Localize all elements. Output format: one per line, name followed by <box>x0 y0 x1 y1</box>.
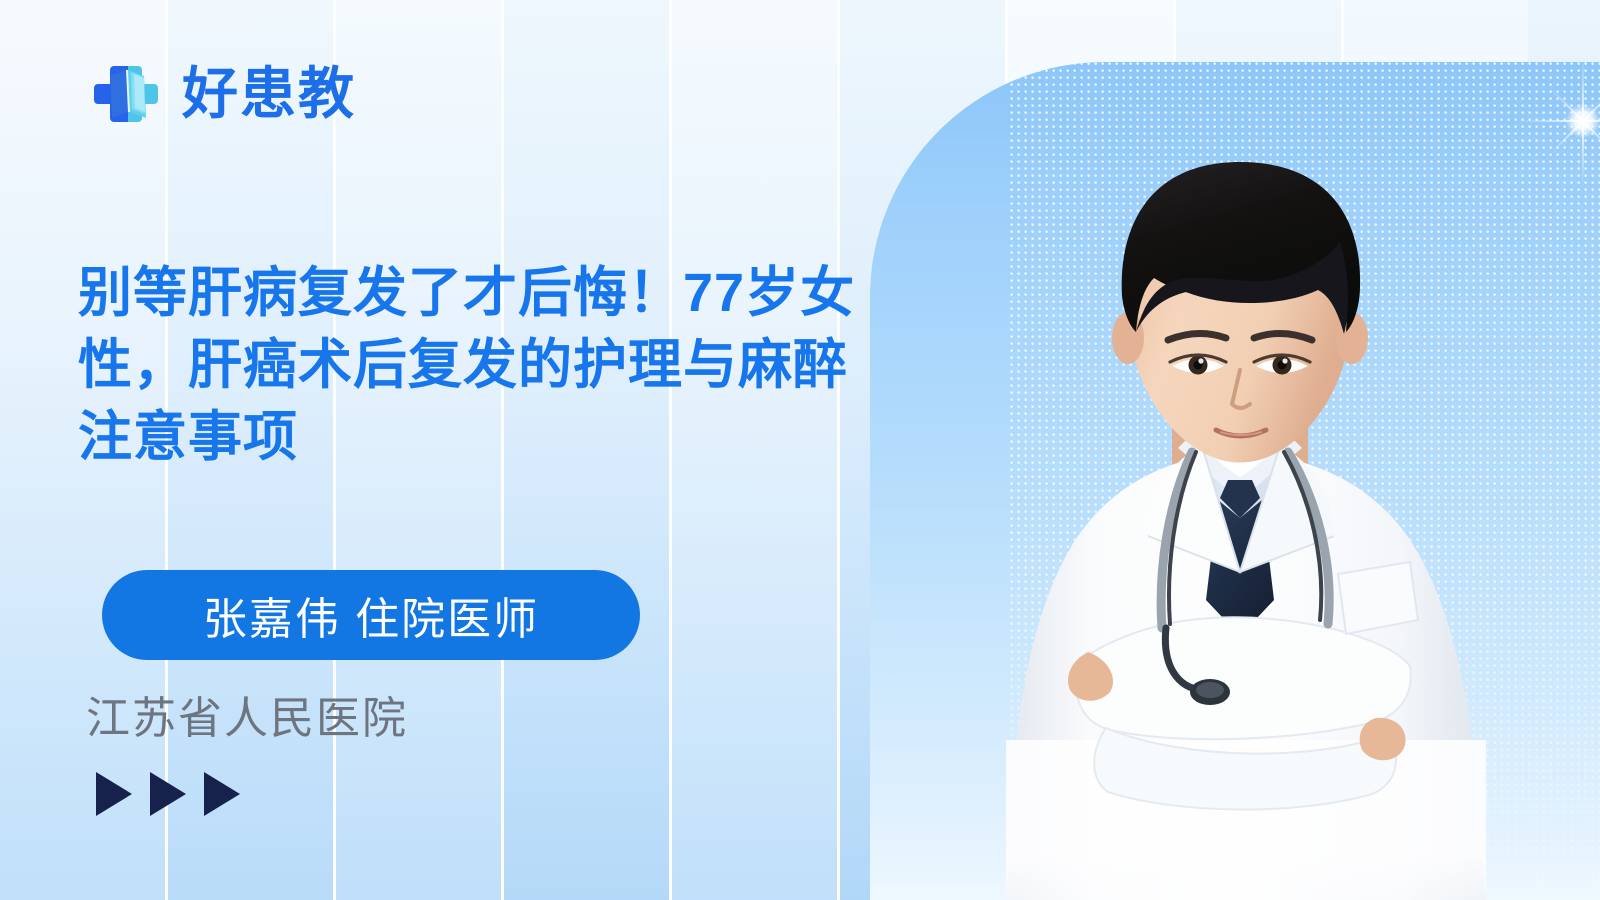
medical-cross-book-icon <box>88 54 168 134</box>
doctor-portrait <box>910 100 1570 900</box>
headline-title: 别等肝病复发了才后悔！77岁女性，肝癌术后复发的护理与麻醉注意事项 <box>78 258 868 473</box>
play-arrow-icon <box>96 772 132 816</box>
play-arrow-icon <box>204 772 240 816</box>
doctor-name-badge: 张嘉伟 住院医师 <box>102 570 640 660</box>
doctor-name-label: 张嘉伟 住院医师 <box>203 583 539 647</box>
play-arrows-group <box>96 772 240 816</box>
promo-card: 好患教 别等肝病复发了才后悔！77岁女性，肝癌术后复发的护理与麻醉注意事项 张嘉… <box>0 0 1600 900</box>
hospital-label: 江苏省人民医院 <box>86 682 408 746</box>
doctor-photo-panel <box>870 62 1600 900</box>
brand-logo[interactable]: 好患教 <box>88 54 356 134</box>
logo-wordmark: 好患教 <box>182 66 356 122</box>
play-arrow-icon <box>150 772 186 816</box>
